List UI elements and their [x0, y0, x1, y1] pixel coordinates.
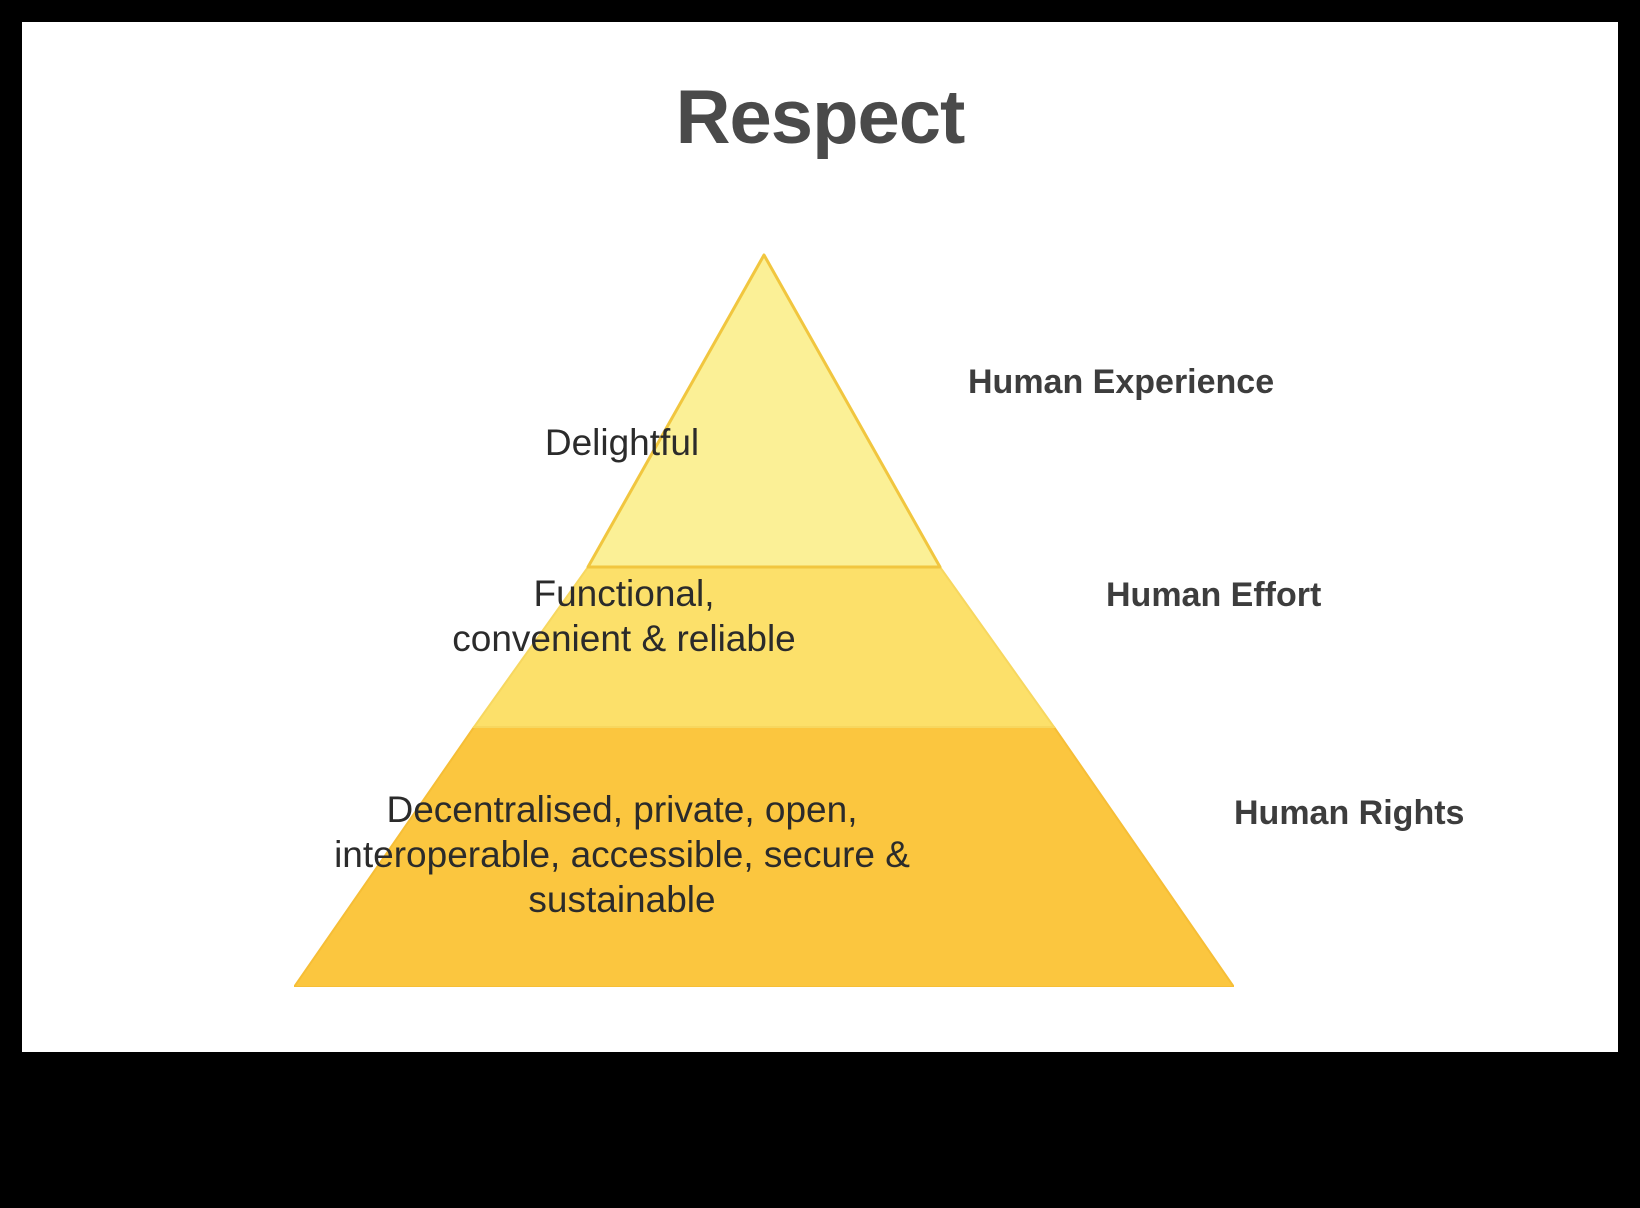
slide-canvas: Respect Delightful Functional, convenien… — [22, 22, 1618, 1052]
pyramid-tier-label-functional: Functional, convenient & reliable — [394, 571, 854, 661]
side-label-human-rights: Human Rights — [1234, 794, 1464, 833]
pyramid-tier-delightful — [588, 255, 940, 567]
page-title: Respect — [22, 80, 1618, 156]
side-label-human-effort: Human Effort — [1106, 576, 1321, 615]
pyramid-tier-label-foundational: Decentralised, private, open, interopera… — [242, 787, 1002, 922]
slide-frame: Respect Delightful Functional, convenien… — [0, 0, 1640, 1208]
side-label-human-experience: Human Experience — [968, 363, 1274, 402]
pyramid-tier-label-delightful: Delightful — [452, 420, 792, 465]
